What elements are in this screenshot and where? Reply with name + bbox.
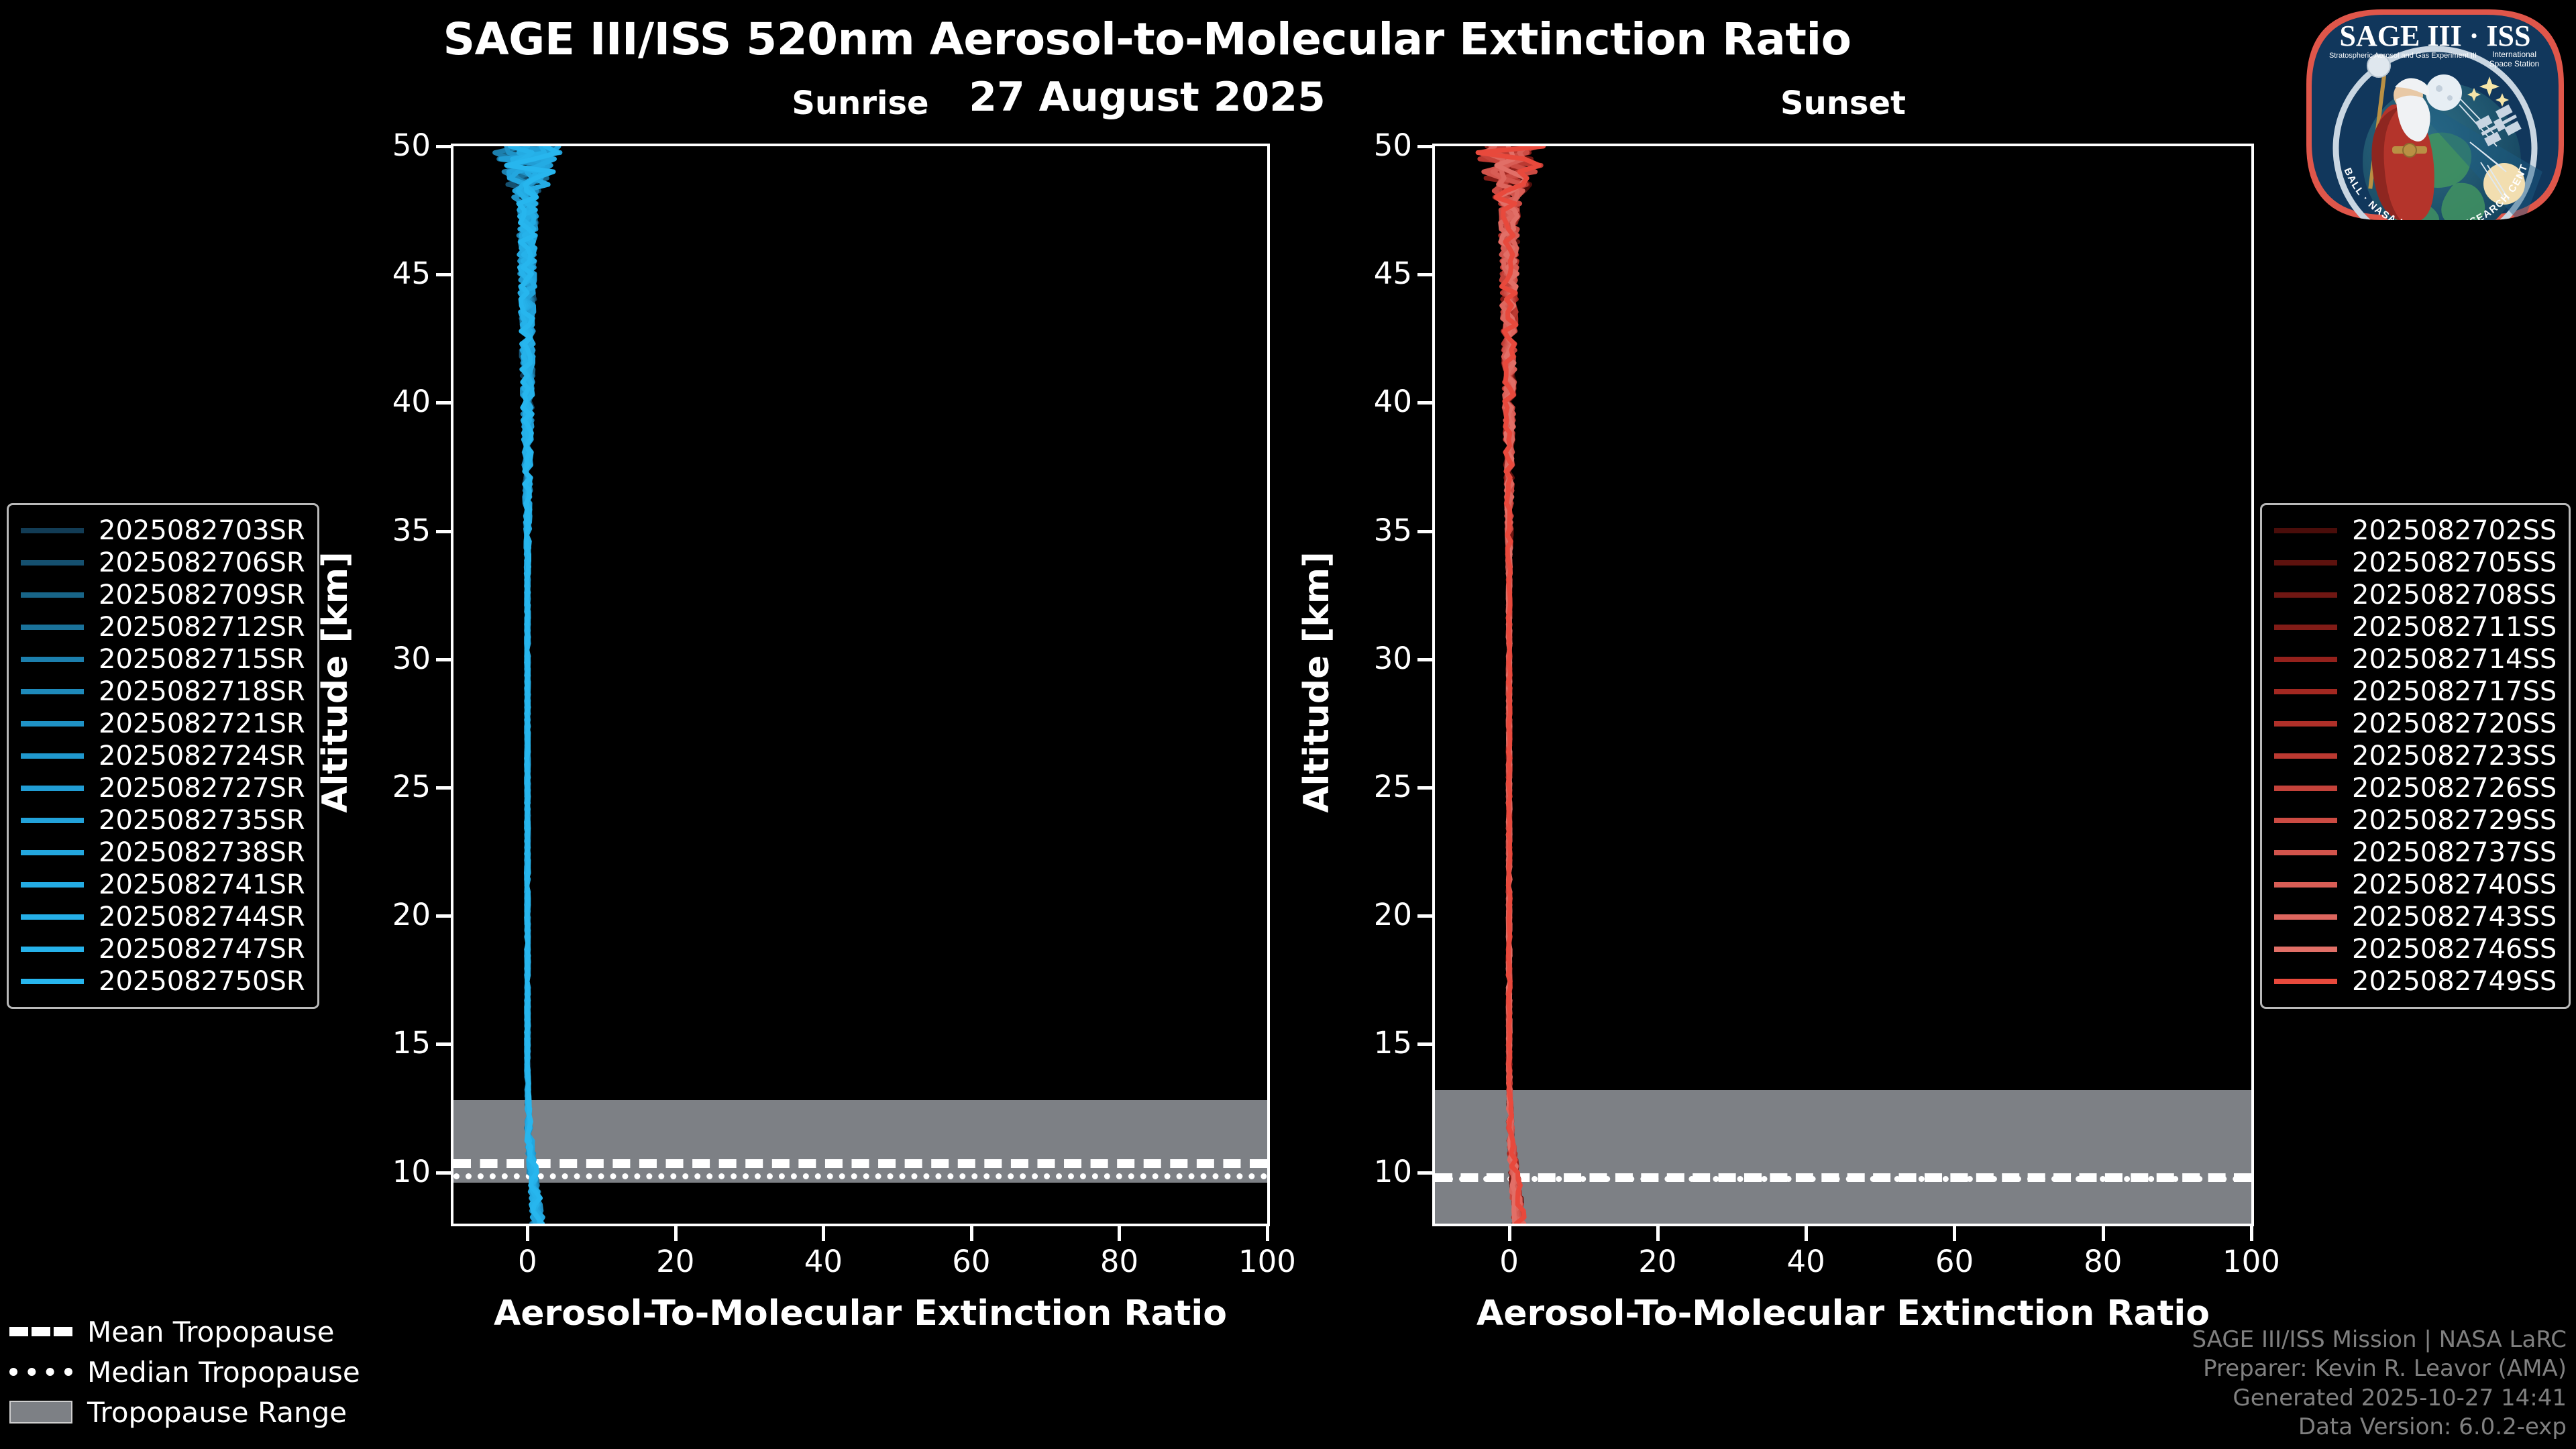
sunset-xaxis-title: Aerosol-To-Molecular Extinction Ratio [1432,1293,2254,1334]
legend-item[interactable]: 2025082724SR [21,740,305,772]
legend-color-swatch [2274,560,2337,566]
legend-item[interactable]: 2025082750SR [21,965,305,998]
legend-item[interactable]: 2025082723SS [2274,740,2557,772]
legend-label: 2025082705SS [2352,547,2557,578]
legend-item[interactable]: 2025082747SR [21,933,305,965]
y-axis-tick-label: 30 [1332,641,1412,676]
legend-label: 2025082721SR [99,708,305,739]
legend-label: 2025082743SS [2352,902,2557,932]
y-axis-tick-mark [436,658,451,661]
legend-item[interactable]: 2025082727SR [21,772,305,804]
legend-item[interactable]: 2025082743SS [2274,901,2557,933]
legend-item[interactable]: 2025082703SR [21,515,305,547]
y-axis-tick-mark [1417,786,1432,790]
legend-color-swatch [2274,657,2337,662]
sunset-yaxis-title: Altitude [km] [1297,141,1337,1224]
y-axis-tick-label: 45 [1332,256,1412,291]
x-axis-tick-mark [526,1226,529,1241]
legend-item[interactable]: 2025082712SR [21,611,305,643]
legend-label-median-tropopause: Median Tropopause [87,1356,360,1389]
legend-label: 2025082708SS [2352,580,2557,610]
sunrise-yaxis-title: Altitude [km] [315,141,356,1224]
moon-icon [2426,74,2462,111]
legend-item[interactable]: 2025082717SS [2274,676,2557,708]
sunrise-plot-area [451,144,1270,1226]
x-axis-tick-label: 60 [1894,1244,2015,1279]
legend-item[interactable]: 2025082726SS [2274,772,2557,804]
y-axis-tick-label: 10 [350,1154,431,1189]
legend-item[interactable]: 2025082744SR [21,901,305,933]
patch-title: SAGE III · ISS [2340,19,2531,52]
legend-label: 2025082746SS [2352,934,2557,965]
y-axis-tick-label: 20 [1332,897,1412,932]
y-axis-tick-mark [1417,1171,1432,1175]
y-axis-tick-mark [1417,658,1432,661]
legend-color-swatch [21,818,84,823]
y-axis-tick-mark [1417,1042,1432,1046]
legend-item-mean-tropopause: Mean Tropopause [9,1311,360,1352]
y-axis-tick-mark [436,401,451,405]
x-axis-tick-mark [822,1226,825,1241]
x-axis-tick-label: 60 [911,1244,1032,1279]
y-axis-tick-mark [436,786,451,790]
y-axis-tick-label: 30 [350,641,431,676]
legend-label: 2025082715SR [99,644,305,675]
x-axis-tick-mark [1266,1226,1269,1241]
y-axis-tick-mark [436,914,451,918]
legend-color-swatch [21,850,84,855]
dotted-line-icon [9,1368,72,1376]
y-axis-tick-mark [1417,914,1432,918]
legend-label: 2025082750SR [99,966,305,997]
legend-item[interactable]: 2025082702SS [2274,515,2557,547]
x-axis-tick-mark [2102,1226,2105,1241]
legend-label: 2025082717SS [2352,676,2557,707]
x-axis-tick-mark [1656,1226,1660,1241]
y-axis-tick-label: 25 [1332,769,1412,804]
y-axis-tick-mark [436,530,451,533]
legend-color-swatch [2274,947,2337,952]
x-axis-tick-label: 80 [2043,1244,2163,1279]
legend-item[interactable]: 2025082738SR [21,837,305,869]
x-axis-tick-label: 100 [2191,1244,2312,1279]
legend-label: 2025082740SS [2352,869,2557,900]
legend-label: 2025082711SS [2352,612,2557,643]
legend-color-swatch [2274,753,2337,759]
legend-label: 2025082714SS [2352,644,2557,675]
dashed-line-icon [9,1327,72,1336]
x-axis-tick-label: 20 [1597,1244,1718,1279]
legend-label: 2025082702SS [2352,515,2557,546]
credits-line-generated: Generated 2025-10-27 14:41 [2192,1384,2567,1413]
legend-color-swatch [2274,850,2337,855]
legend-item[interactable]: 2025082746SS [2274,933,2557,965]
legend-color-swatch [2274,818,2337,823]
credits-block: SAGE III/ISS Mission | NASA LaRC Prepare… [2192,1326,2567,1442]
y-axis-tick-label: 35 [1332,513,1412,548]
legend-color-swatch [21,560,84,566]
legend-label: 2025082718SR [99,676,305,707]
y-axis-tick-label: 40 [1332,384,1412,419]
legend-label: 2025082724SR [99,741,305,771]
legend-item[interactable]: 2025082749SS [2274,965,2557,998]
y-axis-tick-label: 45 [350,256,431,291]
x-axis-tick-mark [1953,1226,1956,1241]
legend-label: 2025082709SR [99,580,305,610]
legend-color-swatch [21,592,84,598]
legend-label: 2025082729SS [2352,805,2557,836]
legend-color-swatch [21,528,84,533]
sunrise-panel-title: Sunrise [451,85,1270,122]
legend-color-swatch [2274,721,2337,727]
y-axis-tick-mark [436,145,451,148]
legend-color-swatch [21,786,84,791]
sunset-panel-title: Sunset [1432,85,2254,122]
legend-label: 2025082747SR [99,934,305,965]
legend-item[interactable]: 2025082720SS [2274,708,2557,740]
sunset-plot-area [1432,144,2254,1226]
moon-crater-2 [2447,95,2453,101]
legend-label-tropopause-range: Tropopause Range [87,1396,347,1429]
legend-color-swatch [21,657,84,662]
profile-line [1486,146,1524,1224]
y-axis-tick-label: 40 [350,384,431,419]
legend-label: 2025082703SR [99,515,305,546]
x-axis-tick-label: 20 [615,1244,736,1279]
legend-color-swatch [21,979,84,984]
legend-item-median-tropopause: Median Tropopause [9,1352,360,1392]
y-axis-tick-mark [1417,530,1432,533]
x-axis-tick-label: 40 [1746,1244,1866,1279]
y-axis-tick-label: 15 [350,1025,431,1061]
legend-label: 2025082706SR [99,547,305,578]
legend-color-swatch [21,689,84,694]
y-axis-tick-label: 25 [350,769,431,804]
y-axis-tick-label: 50 [350,127,431,163]
patch-subtitle-left: Stratospheric Aerosol and Gas Experiment… [2329,52,2477,60]
sunrise-xaxis-title: Aerosol-To-Molecular Extinction Ratio [451,1293,1270,1334]
moon-crater [2436,85,2443,92]
legend-color-swatch [21,914,84,920]
credits-line-preparer: Preparer: Kevin R. Leavor (AMA) [2192,1354,2567,1384]
y-axis-tick-mark [1417,273,1432,276]
legend-color-swatch [2274,689,2337,694]
legend-color-swatch [2274,979,2337,984]
y-axis-tick-label: 35 [350,513,431,548]
legend-item[interactable]: 2025082735SR [21,804,305,837]
y-axis-tick-mark [436,1171,451,1175]
legend-item[interactable]: 2025082708SS [2274,579,2557,611]
legend-color-swatch [21,753,84,759]
legend-item[interactable]: 2025082737SS [2274,837,2557,869]
sage-iii-iss-mission-patch: BALL · NASA LANGLEY RESEARCH CENTER · TA… [2301,4,2569,225]
x-axis-tick-label: 0 [1449,1244,1570,1279]
y-axis-tick-label: 10 [1332,1154,1412,1189]
sunset-legend[interactable]: 2025082702SS2025082705SS2025082708SS2025… [2260,503,2571,1009]
patch-subtitle-right-2: Space Station [2489,59,2540,68]
credits-line-version: Data Version: 6.0.2-exp [2192,1413,2567,1442]
x-axis-tick-label: 40 [763,1244,883,1279]
legend-item[interactable]: 2025082714SS [2274,643,2557,676]
legend-item-tropopause-range: Tropopause Range [9,1392,360,1432]
legend-color-swatch [21,882,84,888]
x-axis-tick-mark [1805,1226,1808,1241]
legend-item[interactable]: 2025082709SR [21,579,305,611]
legend-item[interactable]: 2025082740SS [2274,869,2557,901]
credits-line-mission: SAGE III/ISS Mission | NASA LaRC [2192,1326,2567,1355]
legend-label: 2025082720SS [2352,708,2557,739]
legend-item[interactable]: 2025082721SR [21,708,305,740]
legend-color-swatch [2274,882,2337,888]
y-axis-tick-mark [1417,145,1432,148]
x-axis-tick-mark [2250,1226,2253,1241]
legend-label: 2025082744SR [99,902,305,932]
legend-item[interactable]: 2025082705SS [2274,547,2557,579]
x-axis-tick-mark [970,1226,973,1241]
x-axis-tick-mark [1508,1226,1511,1241]
legend-label: 2025082726SS [2352,773,2557,804]
legend-label: 2025082712SR [99,612,305,643]
legend-label: 2025082723SS [2352,741,2557,771]
legend-label: 2025082737SS [2352,837,2557,868]
legend-label: 2025082738SR [99,837,305,868]
x-axis-tick-label: 0 [467,1244,588,1279]
x-axis-tick-mark [1118,1226,1121,1241]
legend-color-swatch [2274,528,2337,533]
x-axis-tick-mark [674,1226,678,1241]
sunset-profile-curves [1435,146,2251,1224]
legend-label: 2025082741SR [99,869,305,900]
legend-item[interactable]: 2025082711SS [2274,611,2557,643]
legend-item[interactable]: 2025082715SR [21,643,305,676]
legend-item[interactable]: 2025082718SR [21,676,305,708]
y-axis-tick-label: 15 [1332,1025,1412,1061]
y-axis-tick-mark [436,273,451,276]
legend-color-swatch [2274,914,2337,920]
legend-label: 2025082735SR [99,805,305,836]
legend-color-swatch [2274,592,2337,598]
page-title: SAGE III/ISS 520nm Aerosol-to-Molecular … [0,13,2294,65]
legend-color-swatch [2274,625,2337,630]
legend-color-swatch [21,625,84,630]
x-axis-tick-label: 80 [1059,1244,1179,1279]
y-axis-tick-mark [1417,401,1432,405]
legend-item[interactable]: 2025082729SS [2274,804,2557,837]
legend-label-mean-tropopause: Mean Tropopause [87,1316,334,1348]
legend-item[interactable]: 2025082706SR [21,547,305,579]
y-axis-tick-label: 50 [1332,127,1412,163]
legend-color-swatch [2274,786,2337,791]
legend-label: 2025082727SR [99,773,305,804]
legend-item[interactable]: 2025082741SR [21,869,305,901]
y-axis-tick-mark [436,1042,451,1046]
filled-band-icon [9,1401,72,1424]
tropopause-legend: Mean Tropopause Median Tropopause Tropop… [9,1311,360,1432]
sunrise-profile-curves [453,146,1267,1224]
legend-color-swatch [21,721,84,727]
y-axis-tick-label: 20 [350,897,431,932]
sunrise-legend[interactable]: 2025082703SR2025082706SR2025082709SR2025… [7,503,319,1009]
legend-color-swatch [21,947,84,952]
patch-subtitle-right-1: International [2492,50,2536,59]
profile-line [1478,146,1544,1224]
x-axis-tick-label: 100 [1207,1244,1328,1279]
legend-label: 2025082749SS [2352,966,2557,997]
